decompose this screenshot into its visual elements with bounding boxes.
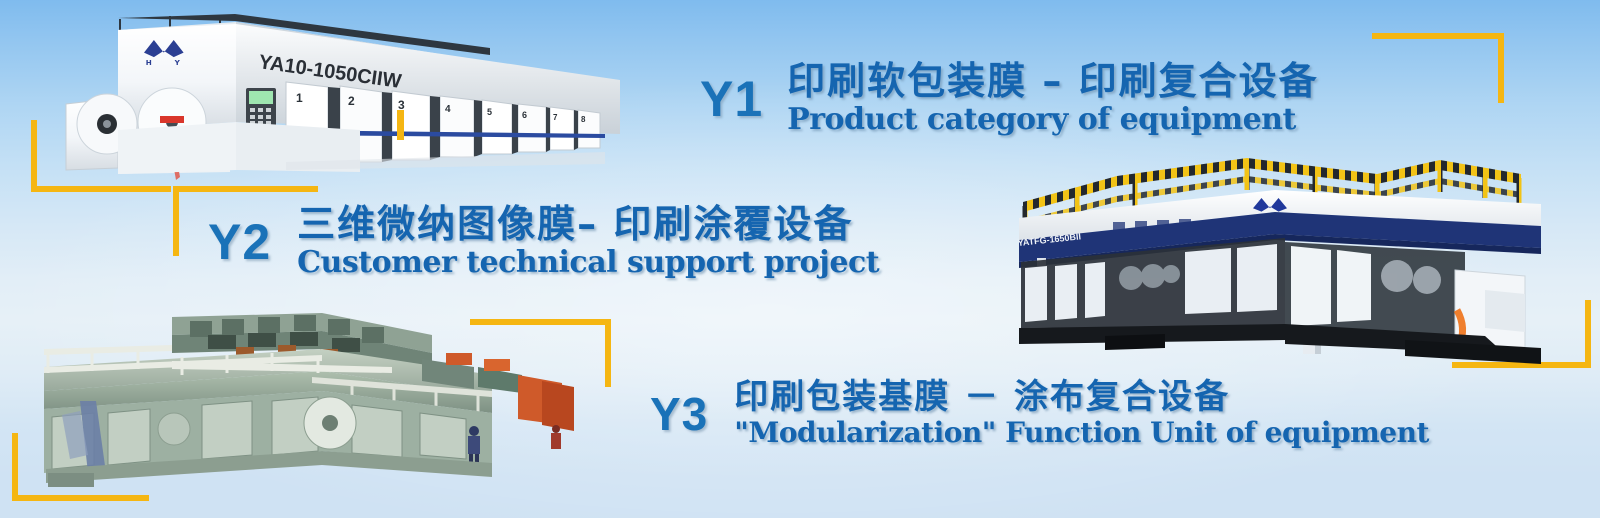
text-row-y2: Y2 三维微纳图像膜– 印刷涂覆设备 Customer technical su… — [208, 205, 879, 278]
unit-number: 4 — [445, 104, 451, 115]
unit-number: 8 — [581, 115, 586, 124]
unit-number: 7 — [553, 113, 558, 122]
row-english-y1: Product category of equipment — [787, 104, 1318, 136]
unit-number: 1 — [296, 91, 303, 105]
bracket-right-lower-vertical — [1585, 300, 1591, 368]
row-text-y2: 三维微纳图像膜– 印刷涂覆设备 Customer technical suppo… — [297, 205, 879, 278]
bracket-bottom-left-horizontal — [12, 495, 149, 501]
equipment-category-banner: H Y YA10-1050CIIW 1 2 — [0, 0, 1600, 518]
worker-figure-2 — [551, 425, 561, 449]
bracket-mid-left-horizontal — [173, 186, 318, 192]
row-chinese-y2: 三维微纳图像膜– 印刷涂覆设备 — [297, 205, 879, 245]
machine-top-left: H Y YA10-1050CIIW 1 2 — [60, 2, 620, 180]
bracket-top-left-vertical — [31, 120, 37, 192]
row-text-y1: 印刷软包装膜 – 印刷复合设备 Product category of equi… — [787, 62, 1318, 135]
row-english-y3: "Modularization" Function Unit of equipm… — [734, 418, 1429, 447]
row-chinese-y3: 印刷包装基膜 － 涂布复合设备 — [734, 380, 1429, 416]
bracket-top-right-horizontal — [1372, 33, 1504, 39]
row-code-y3: Y3 — [650, 387, 708, 441]
unit-number: 6 — [522, 110, 527, 120]
row-chinese-y1: 印刷软包装膜 – 印刷复合设备 — [787, 62, 1318, 102]
bracket-mid-center-vertical — [605, 319, 611, 387]
row-english-y2: Customer technical support project — [297, 247, 879, 279]
bracket-top-right-vertical — [1498, 33, 1504, 103]
machine-bottom-left — [22, 305, 577, 490]
bracket-bottom-left-vertical — [12, 433, 18, 501]
bracket-top-left-horizontal — [31, 186, 171, 192]
machine-right: YATFG-1650BII — [985, 150, 1545, 375]
text-row-y3: Y3 印刷包装基膜 － 涂布复合设备 "Modularization" Func… — [650, 380, 1429, 447]
text-row-y1: Y1 印刷软包装膜 – 印刷复合设备 Product category of e… — [700, 62, 1319, 135]
row-text-y3: 印刷包装基膜 － 涂布复合设备 "Modularization" Functio… — [734, 380, 1429, 447]
unit-number: 2 — [348, 94, 355, 108]
row-code-y2: Y2 — [208, 213, 271, 271]
row-code-y1: Y1 — [700, 70, 763, 128]
svg-text:Y: Y — [174, 58, 181, 67]
unit-number: 5 — [487, 107, 492, 117]
svg-text:H: H — [146, 58, 152, 67]
unit-number: 3 — [398, 98, 405, 112]
bracket-mid-left-vertical — [173, 186, 179, 256]
